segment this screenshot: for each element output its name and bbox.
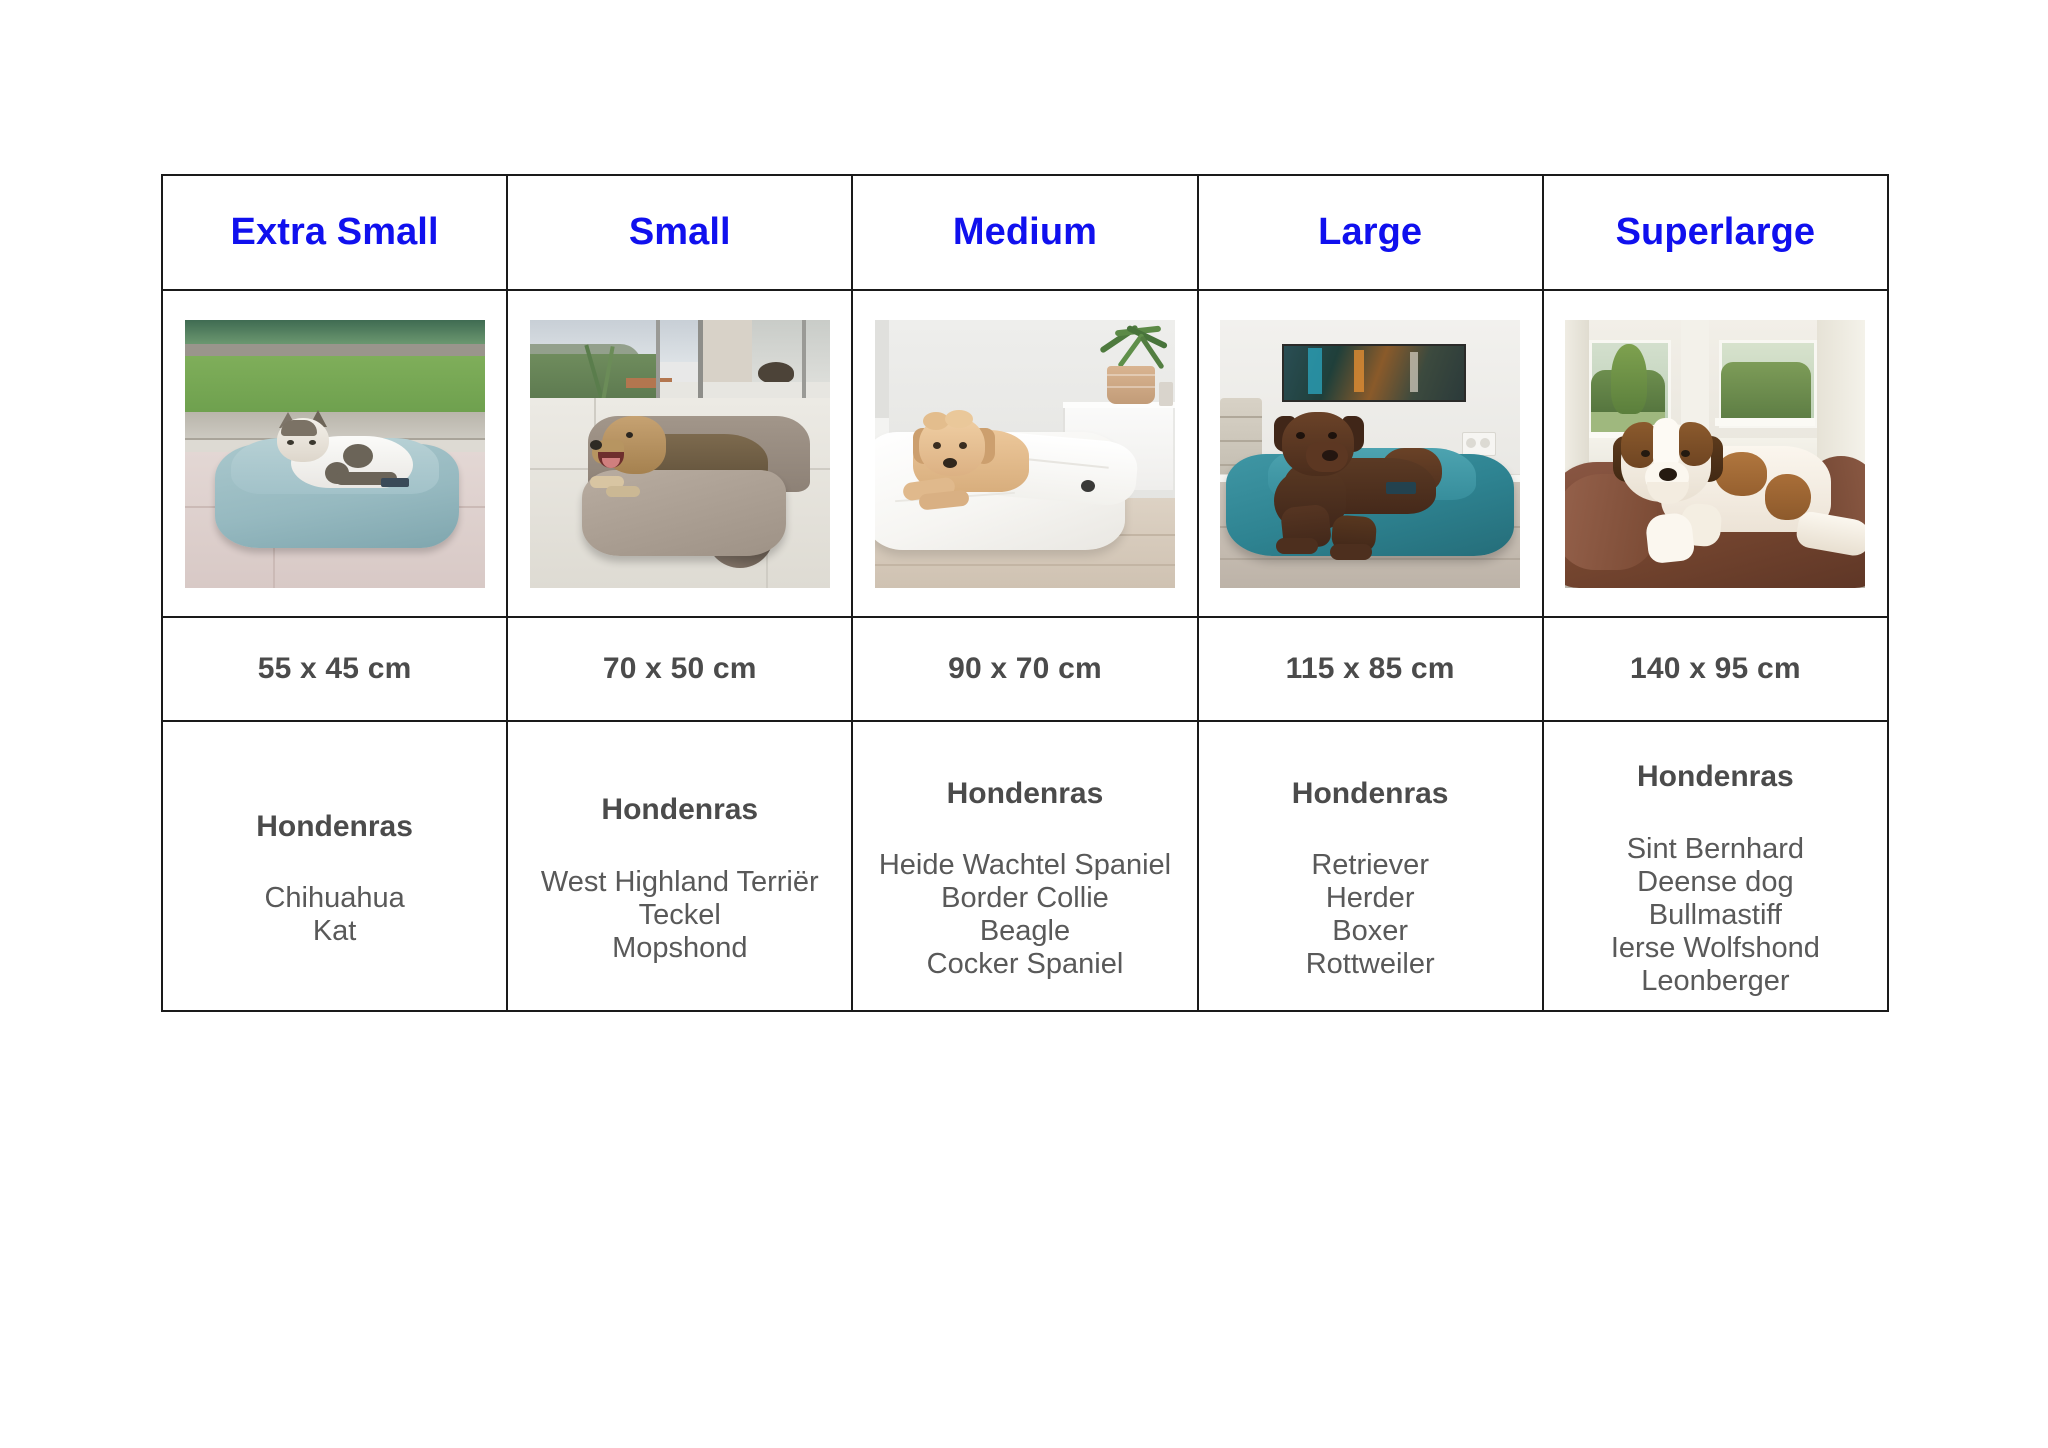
dimensions-cell-small: 70 x 50 cm bbox=[507, 617, 852, 721]
floor-plank-line bbox=[1220, 558, 1520, 560]
breed-item: Heide Wachtel Spaniel bbox=[853, 849, 1196, 882]
breed-item: Kat bbox=[163, 915, 506, 948]
breeds-cell-large: Hondenras Retriever Herder Boxer Rottwei… bbox=[1198, 721, 1543, 1011]
breeds-cell-small: Hondenras West Highland Terriër Teckel M… bbox=[507, 721, 852, 1011]
breed-item: Beagle bbox=[853, 915, 1196, 948]
dog-paw bbox=[1330, 544, 1372, 560]
size-header-cell-medium: Medium bbox=[852, 175, 1197, 290]
breed-list-large: Retriever Herder Boxer Rottweiler bbox=[1199, 849, 1542, 981]
cat-eye-right bbox=[309, 440, 316, 445]
dimensions-cell-medium: 90 x 70 cm bbox=[852, 617, 1197, 721]
dog-nose bbox=[1659, 468, 1677, 481]
dog-nose bbox=[943, 458, 957, 468]
breed-item: Mopshond bbox=[508, 932, 851, 965]
breed-item: West Highland Terriër bbox=[508, 866, 851, 899]
dog-paw bbox=[606, 486, 640, 497]
dog-eye-left bbox=[1641, 450, 1650, 457]
outlet-socket bbox=[1466, 438, 1476, 448]
dog-face-marking bbox=[1621, 422, 1655, 468]
dog-fur-patch bbox=[1715, 452, 1767, 496]
garden-hedge bbox=[1721, 362, 1811, 420]
product-photo-small bbox=[530, 320, 830, 588]
table-row-dimensions: 55 x 45 cm 70 x 50 cm 90 x 70 cm 115 x 8… bbox=[162, 617, 1888, 721]
lawn bbox=[185, 356, 485, 414]
size-name-extra-small: Extra Small bbox=[163, 212, 506, 254]
dimensions-large: 115 x 85 cm bbox=[1199, 652, 1542, 686]
product-photo-extra-small bbox=[185, 320, 485, 588]
woven-plant-pot bbox=[1107, 366, 1155, 404]
window-sill bbox=[1715, 418, 1815, 426]
dimensions-medium: 90 x 70 cm bbox=[853, 652, 1196, 686]
size-header-cell-large: Large bbox=[1198, 175, 1543, 290]
garden-tree bbox=[1611, 344, 1647, 414]
dimensions-cell-extra-small: 55 x 45 cm bbox=[162, 617, 507, 721]
dog-eye-right bbox=[1681, 450, 1690, 457]
photo-cell-large bbox=[1198, 290, 1543, 617]
pot-weave-line bbox=[1107, 386, 1155, 388]
dog-bed-size-table: Extra Small Small Medium Large Superlarg… bbox=[161, 174, 1889, 1012]
breed-item: Border Collie bbox=[853, 882, 1196, 915]
breed-item: Deense dog bbox=[1544, 866, 1887, 899]
breed-item: Cocker Spaniel bbox=[853, 948, 1196, 981]
floor-plank-line bbox=[875, 564, 1175, 566]
size-name-medium: Medium bbox=[853, 212, 1196, 254]
pot-weave-line bbox=[1107, 374, 1155, 376]
breed-item: Rottweiler bbox=[1199, 948, 1542, 981]
breed-item: Ierse Wolfshond bbox=[1544, 932, 1887, 965]
breeds-cell-medium: Hondenras Heide Wachtel Spaniel Border C… bbox=[852, 721, 1197, 1011]
size-header-cell-superlarge: Superlarge bbox=[1543, 175, 1888, 290]
candle-holder bbox=[1159, 382, 1173, 406]
photo-cell-extra-small bbox=[162, 290, 507, 617]
breed-list-superlarge: Sint Bernhard Deense dog Bullmastiff Ier… bbox=[1544, 833, 1887, 998]
table-row-breeds: Hondenras Chihuahua Kat Hondenras West H… bbox=[162, 721, 1888, 1011]
artwork-detail bbox=[1410, 352, 1418, 392]
breed-title-large: Hondenras bbox=[1199, 777, 1542, 812]
breed-list-medium: Heide Wachtel Spaniel Border Collie Beag… bbox=[853, 849, 1196, 981]
dog-nose bbox=[590, 440, 602, 450]
bed-brand-label bbox=[1386, 482, 1416, 494]
size-name-superlarge: Superlarge bbox=[1544, 212, 1887, 254]
breed-item: Leonberger bbox=[1544, 965, 1887, 998]
breed-title-superlarge: Hondenras bbox=[1544, 760, 1887, 795]
garden-rock bbox=[758, 362, 794, 384]
breed-list-small: West Highland Terriër Teckel Mopshond bbox=[508, 866, 851, 965]
product-photo-superlarge bbox=[1565, 320, 1865, 588]
window-sky bbox=[185, 320, 485, 346]
cat-eye-left bbox=[287, 440, 294, 445]
breed-title-small: Hondenras bbox=[508, 793, 851, 828]
dimensions-cell-superlarge: 140 x 95 cm bbox=[1543, 617, 1888, 721]
cat-fur-patch bbox=[343, 444, 373, 468]
cat-head-marking bbox=[281, 420, 317, 436]
dog-eye-right bbox=[1328, 432, 1337, 439]
breed-item: Boxer bbox=[1199, 915, 1542, 948]
size-name-large: Large bbox=[1199, 212, 1542, 254]
breed-item: Chihuahua bbox=[163, 882, 506, 915]
dog-nose bbox=[1322, 450, 1338, 461]
breed-item: Bullmastiff bbox=[1544, 899, 1887, 932]
breed-item: Herder bbox=[1199, 882, 1542, 915]
outlet-socket bbox=[1480, 438, 1490, 448]
bed-zipper-pull bbox=[1081, 480, 1095, 492]
lamp-texture-line bbox=[1220, 416, 1262, 418]
lamp-texture-line bbox=[1220, 440, 1262, 442]
product-photo-large bbox=[1220, 320, 1520, 588]
size-header-cell-small: Small bbox=[507, 175, 852, 290]
dog-eye-left bbox=[933, 442, 941, 449]
dog-paw bbox=[1276, 538, 1318, 554]
breed-item: Retriever bbox=[1199, 849, 1542, 882]
breeds-cell-extra-small: Hondenras Chihuahua Kat bbox=[162, 721, 507, 1011]
breed-list-extra-small: Chihuahua Kat bbox=[163, 882, 506, 948]
breed-title-medium: Hondenras bbox=[853, 777, 1196, 812]
dog-eye bbox=[626, 432, 633, 438]
dog-curly-fur bbox=[945, 410, 973, 428]
breed-item: Sint Bernhard bbox=[1544, 833, 1887, 866]
table-row-size-names: Extra Small Small Medium Large Superlarg… bbox=[162, 175, 1888, 290]
dimensions-extra-small: 55 x 45 cm bbox=[163, 652, 506, 686]
product-photo-medium bbox=[875, 320, 1175, 588]
dimensions-superlarge: 140 x 95 cm bbox=[1544, 652, 1887, 686]
breed-item: Teckel bbox=[508, 899, 851, 932]
dog-paw bbox=[1645, 511, 1696, 564]
breeds-cell-superlarge: Hondenras Sint Bernhard Deense dog Bullm… bbox=[1543, 721, 1888, 1011]
dog-eye-right bbox=[959, 442, 967, 449]
photo-cell-small bbox=[507, 290, 852, 617]
photo-cell-superlarge bbox=[1543, 290, 1888, 617]
artwork-detail bbox=[1308, 348, 1322, 394]
table-row-product-photos bbox=[162, 290, 1888, 617]
dimensions-cell-large: 115 x 85 cm bbox=[1198, 617, 1543, 721]
dimensions-small: 70 x 50 cm bbox=[508, 652, 851, 686]
breed-title-extra-small: Hondenras bbox=[163, 810, 506, 845]
dog-eye-left bbox=[1296, 432, 1305, 439]
bed-brand-label bbox=[381, 478, 409, 487]
artwork-detail bbox=[1354, 350, 1364, 392]
photo-cell-medium bbox=[852, 290, 1197, 617]
size-header-cell-extra-small: Extra Small bbox=[162, 175, 507, 290]
size-name-small: Small bbox=[508, 212, 851, 254]
